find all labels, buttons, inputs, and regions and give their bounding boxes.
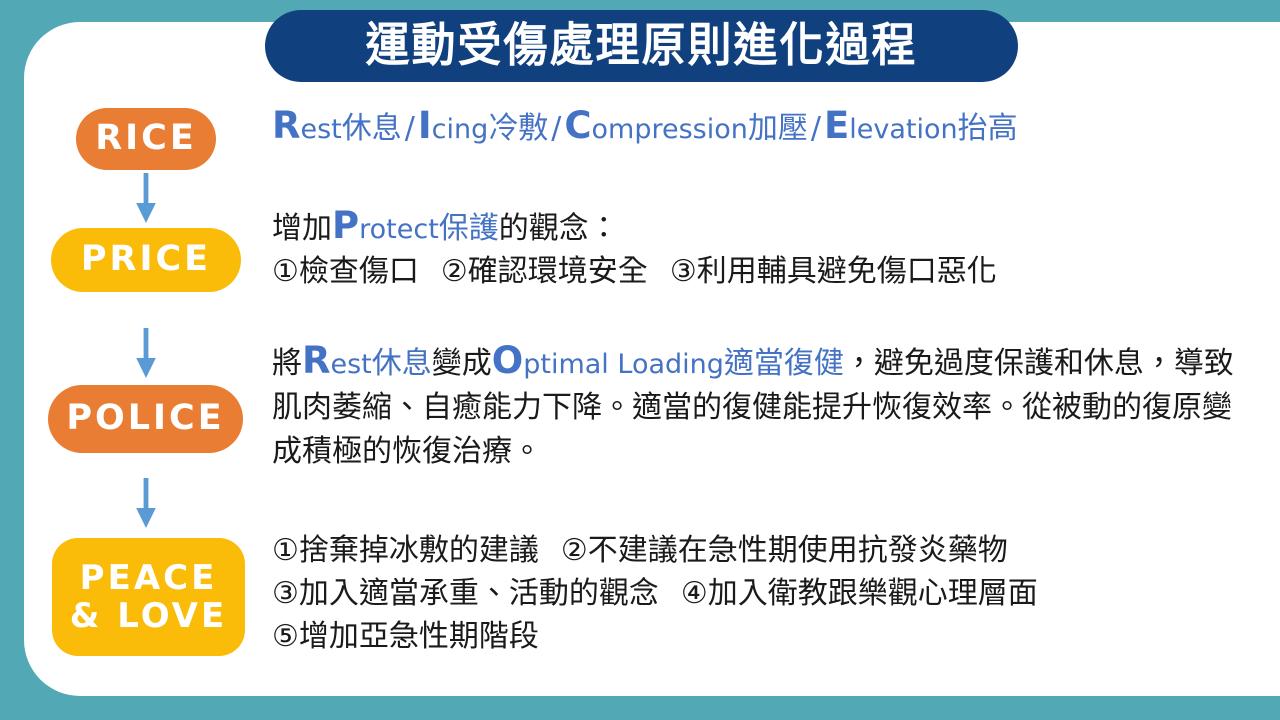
police-mid: 變成	[432, 346, 492, 381]
rice-latin-icing: cing	[432, 114, 489, 145]
rice-cjk-elevation: 抬高	[958, 111, 1018, 146]
police-paragraph: 將Rest休息變成Optimal Loading適當復健，避免過度保護和休息，導…	[272, 342, 1257, 473]
police-latin-rest: est	[331, 349, 372, 380]
rice-latin-rest: est	[301, 114, 342, 145]
price-intro-prefix: 增加	[272, 211, 332, 246]
flow-arrow-down-icon-2	[132, 328, 160, 378]
stage-pill-price[interactable]: PRICE	[51, 228, 241, 292]
peace-item-2: ②不建議在急性期使用抗發炎藥物	[561, 533, 1008, 568]
price-item-2: ②確認環境安全	[441, 254, 648, 289]
rice-cjk-icing: 冷敷	[488, 111, 548, 146]
peace-item-5: ⑤增加亞急性期階段	[272, 619, 539, 654]
stage-label-rice: RICE	[95, 120, 197, 157]
price-cjk-protect: 保護	[439, 211, 499, 246]
stage-pill-peace-love[interactable]: PEACE & LOVE	[52, 538, 245, 656]
rice-cap-r: R	[272, 104, 301, 147]
price-item-1: ①檢查傷口	[272, 254, 419, 289]
peace-line-2: ③加入適當承重、活動的觀念④加入衛教跟樂觀心理層面	[272, 572, 1257, 615]
description-peace-love: ①捨棄掉冰敷的建議②不建議在急性期使用抗發炎藥物 ③加入適當承重、活動的觀念④加…	[272, 529, 1257, 659]
rice-cap-i: I	[418, 104, 432, 147]
police-cjk-optimal-loading: 適當復健	[724, 346, 844, 381]
police-latin-optimal-loading: ptimal Loading	[523, 349, 724, 380]
police-prefix: 將	[272, 346, 302, 381]
description-police: 將Rest休息變成Optimal Loading適當復健，避免過度保護和休息，導…	[272, 342, 1257, 473]
peace-item-1: ①捨棄掉冰敷的建議	[272, 533, 539, 568]
price-latin-protect: rotect	[359, 214, 439, 245]
price-item-3: ③利用輔具避免傷口惡化	[670, 254, 997, 289]
price-cap-p: P	[332, 204, 359, 247]
stage-pill-police[interactable]: POLICE	[48, 385, 243, 453]
rice-separator-3: /	[808, 111, 824, 146]
price-items-line: ①檢查傷口②確認環境安全③利用輔具避免傷口惡化	[272, 251, 1257, 294]
stage-pill-rice[interactable]: RICE	[76, 108, 216, 170]
title-banner: 運動受傷處理原則進化過程	[265, 10, 1018, 82]
stage-label-peace: PEACE	[80, 559, 218, 597]
peace-line-3: ⑤增加亞急性期階段	[272, 615, 1257, 658]
stage-label-police: POLICE	[66, 400, 224, 437]
flow-arrow-down-icon-3	[132, 478, 160, 528]
peace-item-4: ④加入衛教跟樂觀心理層面	[681, 576, 1038, 611]
page-title: 運動受傷處理原則進化過程	[366, 23, 918, 70]
price-intro-suffix: 的觀念：	[499, 211, 619, 246]
rice-separator-1: /	[402, 111, 418, 146]
rice-cap-c: C	[564, 104, 591, 147]
description-price: 增加Protect保護的觀念： ①檢查傷口②確認環境安全③利用輔具避免傷口惡化	[272, 208, 1257, 293]
rice-cjk-rest: 休息	[342, 111, 402, 146]
price-intro-line: 增加Protect保護的觀念：	[272, 208, 1257, 251]
stage-label-love: & LOVE	[70, 597, 227, 635]
police-cap-r: R	[302, 339, 331, 382]
peace-item-3: ③加入適當承重、活動的觀念	[272, 576, 659, 611]
rice-cap-e: E	[824, 104, 849, 147]
flow-arrow-down-icon-1	[132, 173, 160, 223]
peace-line-1: ①捨棄掉冰敷的建議②不建議在急性期使用抗發炎藥物	[272, 529, 1257, 572]
rice-cjk-compression: 加壓	[748, 111, 808, 146]
stage-flow-column: RICE PRICE POLICE PEACE & LOVE	[44, 100, 250, 666]
rice-expansion-line: Rest休息/Icing冷敷/Compression加壓/Elevation抬高	[272, 108, 1257, 151]
slide-canvas: 運動受傷處理原則進化過程 RICE PRICE POLICE	[0, 0, 1280, 720]
rice-latin-compression: ompression	[592, 114, 748, 145]
rice-latin-elevation: levation	[849, 114, 957, 145]
rice-separator-2: /	[548, 111, 564, 146]
stage-label-price: PRICE	[81, 241, 211, 278]
description-rice: Rest休息/Icing冷敷/Compression加壓/Elevation抬高	[272, 108, 1257, 151]
police-cap-o: O	[492, 339, 523, 382]
police-cjk-rest: 休息	[372, 346, 432, 381]
